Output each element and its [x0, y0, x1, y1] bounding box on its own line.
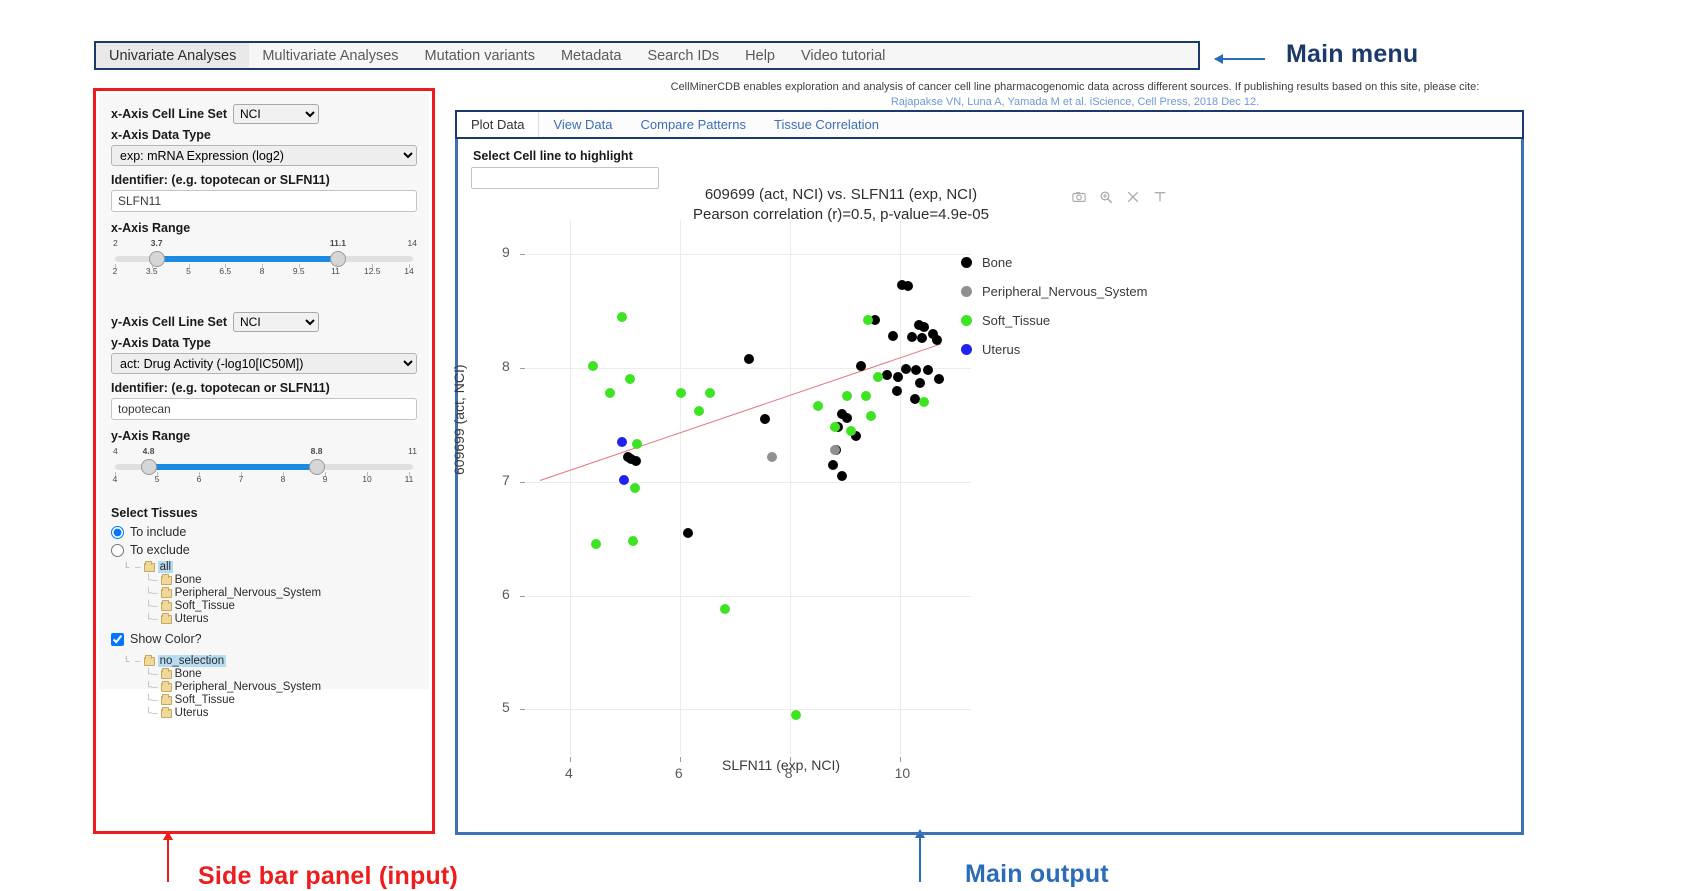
scatter-point[interactable]	[676, 388, 686, 398]
tree-child-node[interactable]: └–Bone	[145, 668, 417, 680]
scatter-point[interactable]	[917, 333, 927, 343]
tree-child-node[interactable]: └–Uterus	[145, 707, 417, 719]
tree-connector: └–	[145, 682, 158, 693]
y-axis-label: 609699 (act, NCI)	[451, 365, 467, 476]
scatter-point[interactable]	[892, 386, 902, 396]
scatter-point[interactable]	[830, 422, 840, 432]
legend-marker	[961, 344, 972, 355]
scatter-point[interactable]	[630, 483, 640, 493]
annotation-arrow-main-menu	[1215, 58, 1265, 60]
y-gridline	[526, 254, 971, 255]
plot-title: 609699 (act, NCI) vs. SLFN11 (exp, NCI) …	[561, 185, 1121, 226]
scatter-point[interactable]	[720, 604, 730, 614]
x-axis-cell-line-set-select[interactable]: NCI	[233, 104, 319, 124]
y-tick-label: 6	[502, 586, 510, 602]
scatter-point[interactable]	[705, 388, 715, 398]
folder-icon	[161, 589, 172, 598]
main-menu-item-metadata[interactable]: Metadata	[548, 43, 634, 68]
tree-child-label: Bone	[175, 574, 202, 586]
scatter-point[interactable]	[882, 370, 892, 380]
tree-child-label: Peripheral_Nervous_System	[175, 587, 321, 599]
scatter-point[interactable]	[842, 391, 852, 401]
x-axis-range-slider[interactable]: 2143.711.123.556.589.51112.514	[111, 238, 417, 284]
x-axis-identifier-input[interactable]	[111, 190, 417, 212]
main-menu[interactable]: Univariate AnalysesMultivariate Analyses…	[94, 41, 1200, 70]
tree-child-label: Uterus	[175, 707, 209, 719]
x-gridline	[790, 220, 791, 755]
scatter-point[interactable]	[856, 361, 866, 371]
y-axis-range-slider[interactable]: 4114.88.84567891011	[111, 446, 417, 492]
y-axis-identifier-input[interactable]	[111, 398, 417, 420]
tree-child-node[interactable]: └–Soft_Tissue	[145, 694, 417, 706]
y-gridline	[526, 709, 971, 710]
y-axis-range-label: y-Axis Range	[111, 429, 417, 443]
tab-label: View Data	[553, 117, 612, 132]
tree-twisty-icon[interactable]: └	[123, 562, 132, 572]
tree-connector: └–	[145, 601, 158, 612]
x-axis-range-label: x-Axis Range	[111, 221, 417, 235]
legend-item-uterus[interactable]: Uterus	[961, 342, 1147, 357]
main-menu-item-label: Metadata	[561, 48, 621, 64]
slider-fill	[157, 256, 338, 262]
tab-compare-patterns[interactable]: Compare Patterns	[627, 112, 761, 137]
legend-item-soft_tissue[interactable]: Soft_Tissue	[961, 313, 1147, 328]
tree-child-node[interactable]: └–Peripheral_Nervous_System	[145, 587, 417, 599]
scatter-point[interactable]	[694, 406, 704, 416]
main-menu-item-label: Multivariate Analyses	[262, 48, 398, 64]
scatter-point[interactable]	[893, 372, 903, 382]
legend-marker	[961, 257, 972, 268]
slider-value-high: 11.1	[330, 238, 346, 248]
scatter-point[interactable]	[861, 391, 871, 401]
scatter-point[interactable]	[631, 456, 641, 466]
tree-root-label: no_selection	[158, 655, 227, 667]
x-axis-range-block: x-Axis Range 2143.711.123.556.589.51112.…	[111, 221, 417, 284]
x-axis-data-type-select[interactable]: exp: mRNA Expression (log2)	[111, 145, 417, 166]
y-tick-label: 8	[502, 358, 510, 374]
plot-legend[interactable]: BonePeripheral_Nervous_SystemSoft_Tissue…	[961, 255, 1147, 371]
main-menu-item-label: Help	[745, 48, 775, 64]
slider-tick-label: 12.5	[364, 266, 381, 276]
y-tick-label: 9	[502, 244, 510, 260]
folder-icon	[161, 670, 172, 679]
trendline	[540, 343, 941, 481]
slider-tick-label: 3.5	[146, 266, 158, 276]
main-menu-item-univariate-analyses[interactable]: Univariate Analyses	[96, 43, 249, 68]
slider-tick-label: 14	[404, 266, 413, 276]
tree-child-node[interactable]: └–Bone	[145, 574, 417, 586]
tree-child-label: Soft_Tissue	[175, 694, 235, 706]
tab-tissue-correlation[interactable]: Tissue Correlation	[760, 112, 893, 137]
plot-title-line1: 609699 (act, NCI) vs. SLFN11 (exp, NCI)	[561, 185, 1121, 205]
slider-max-label: 11	[408, 446, 417, 456]
slider-min-label: 2	[113, 238, 118, 248]
sub-menu-tabs[interactable]: Plot DataView DataCompare PatternsTissue…	[455, 110, 1524, 139]
tree-child-label: Uterus	[175, 613, 209, 625]
legend-marker	[961, 315, 972, 326]
tree-connector: └–	[145, 695, 158, 706]
show-color-label: Show Color?	[130, 632, 202, 646]
tree-child-label: Bone	[175, 668, 202, 680]
slider-max-label: 14	[408, 238, 417, 248]
slider-tick-label: 7	[239, 474, 244, 484]
slider-tick-label: 2	[113, 266, 118, 276]
tree-root-label: all	[158, 561, 174, 573]
folder-icon	[161, 696, 172, 705]
tree-connector: └–	[145, 614, 158, 625]
tree-connector: └–	[145, 575, 158, 586]
annotation-main-output: Main output	[965, 860, 1109, 889]
scatter-point[interactable]	[830, 445, 840, 455]
scatter-point[interactable]	[863, 315, 873, 325]
tree-connector: └–	[145, 669, 158, 680]
tissue-include-radio-row[interactable]: To include	[111, 525, 417, 539]
x-gridline	[680, 220, 681, 755]
scatter-point[interactable]	[923, 365, 933, 375]
slider-tick-label: 5	[186, 266, 191, 276]
slider-tick-label: 6.5	[219, 266, 231, 276]
slider-tick-label: 9.5	[293, 266, 305, 276]
scatter-point[interactable]	[628, 536, 638, 546]
scatter-point[interactable]	[791, 710, 801, 720]
legend-label: Bone	[982, 255, 1012, 270]
x-gridline	[900, 220, 901, 755]
scatter-point[interactable]	[911, 365, 921, 375]
legend-label: Peripheral_Nervous_System	[982, 284, 1147, 299]
legend-marker	[961, 286, 972, 297]
scatter-point[interactable]	[873, 372, 883, 382]
main-menu-item-multivariate-analyses[interactable]: Multivariate Analyses	[249, 43, 411, 68]
scatter-point[interactable]	[625, 374, 635, 384]
main-menu-item-label: Search IDs	[647, 48, 719, 64]
show-color-row[interactable]: Show Color?	[111, 632, 417, 646]
scatter-point[interactable]	[903, 281, 913, 291]
tree-connector: └–	[145, 708, 158, 719]
pan-cross-icon[interactable]	[1126, 190, 1140, 204]
scatter-point[interactable]	[932, 335, 942, 345]
slider-tick-label: 11	[405, 474, 414, 484]
legend-item-bone[interactable]: Bone	[961, 255, 1147, 270]
x-axis-identifier-label: Identifier: (e.g. topotecan or SLFN11)	[111, 173, 417, 187]
slider-min-label: 4	[113, 446, 118, 456]
scatter-point[interactable]	[866, 411, 876, 421]
x-gridline	[570, 220, 571, 755]
annotation-main-menu: Main menu	[1286, 40, 1418, 69]
tree-root-node[interactable]: └–no_selection	[123, 655, 417, 667]
scatter-point[interactable]	[919, 397, 929, 407]
y-axis-data-type-select[interactable]: act: Drug Activity (-log10[IC50M])	[111, 353, 417, 374]
scatter-point[interactable]	[907, 332, 917, 342]
x-axis-cell-line-set-label: x-Axis Cell Line Set	[111, 107, 227, 121]
legend-label: Uterus	[982, 342, 1020, 357]
scatter-point[interactable]	[617, 437, 627, 447]
plot-title-line2: Pearson correlation (r)=0.5, p-value=4.9…	[561, 205, 1121, 225]
y-tick-mark	[520, 709, 525, 710]
tree-child-node[interactable]: └–Soft_Tissue	[145, 600, 417, 612]
scatter-point[interactable]	[760, 414, 770, 424]
scatter-point[interactable]	[888, 331, 898, 341]
tree-root-node[interactable]: └–all	[123, 561, 417, 573]
tree-connector: –	[135, 562, 141, 573]
slider-tick-label: 9	[323, 474, 328, 484]
y-tick-label: 7	[502, 472, 510, 488]
slider-tick-label: 11	[331, 266, 340, 276]
slider-tick-label: 5	[155, 474, 160, 484]
main-menu-item-help[interactable]: Help	[732, 43, 788, 68]
tissue-exclude-label: To exclude	[130, 543, 190, 557]
camera-icon[interactable]	[1072, 190, 1086, 204]
tab-view-data[interactable]: View Data	[539, 112, 626, 137]
annotation-sidebar: Side bar panel (input)	[198, 862, 458, 891]
tree-child-label: Soft_Tissue	[175, 600, 235, 612]
folder-icon	[144, 657, 155, 666]
tree-connector: └–	[145, 588, 158, 599]
annotation-arrow-sidebar	[167, 840, 169, 882]
tree-child-label: Peripheral_Nervous_System	[175, 681, 321, 693]
x-tick-mark	[900, 757, 901, 762]
main-menu-item-video-tutorial[interactable]: Video tutorial	[788, 43, 898, 68]
slider-tick-label: 10	[362, 474, 371, 484]
tree-child-node[interactable]: └–Uterus	[145, 613, 417, 625]
x-axis-cell-line-set-row: x-Axis Cell Line Set NCI	[111, 104, 417, 124]
slider-tick-label: 8	[260, 266, 265, 276]
y-gridline	[526, 596, 971, 597]
autoscale-icon[interactable]	[1153, 190, 1167, 204]
citation-line-1: CellMinerCDB enables exploration and ana…	[540, 81, 1610, 93]
tissue-tree-include[interactable]: └–all└–Bone└–Peripheral_Nervous_System└–…	[123, 561, 417, 625]
tissue-include-radio[interactable]	[111, 526, 124, 539]
legend-label: Soft_Tissue	[982, 313, 1050, 328]
scatter-point[interactable]	[934, 374, 944, 384]
scatter-point[interactable]	[605, 388, 615, 398]
slider-tick-label: 6	[197, 474, 202, 484]
sidebar-panel: x-Axis Cell Line Set NCI x-Axis Data Typ…	[99, 94, 429, 689]
folder-icon	[161, 576, 172, 585]
folder-icon	[161, 602, 172, 611]
y-axis-cell-line-set-label: y-Axis Cell Line Set	[111, 315, 227, 329]
slider-tick-label: 4	[113, 474, 118, 484]
main-menu-item-search-ids[interactable]: Search IDs	[634, 43, 732, 68]
y-tick-mark	[520, 368, 525, 369]
main-menu-item-mutation-variants[interactable]: Mutation variants	[412, 43, 548, 68]
scatter-point[interactable]	[683, 528, 693, 538]
x-tick-label: 6	[675, 765, 683, 781]
tissue-exclude-radio-row[interactable]: To exclude	[111, 543, 417, 557]
scatter-point[interactable]	[842, 413, 852, 423]
y-tick-label: 5	[502, 699, 510, 715]
x-tick-mark	[680, 757, 681, 762]
scatter-point[interactable]	[591, 539, 601, 549]
tree-child-node[interactable]: └–Peripheral_Nervous_System	[145, 681, 417, 693]
select-tissues-title: Select Tissues	[111, 506, 417, 520]
tab-label: Tissue Correlation	[774, 117, 879, 132]
x-tick-label: 10	[895, 765, 911, 781]
folder-icon	[161, 683, 172, 692]
x-tick-mark	[790, 757, 791, 762]
scatter-plot[interactable]: 609699 (act, NCI) vs. SLFN11 (exp, NCI) …	[461, 175, 1518, 830]
y-tick-mark	[520, 482, 525, 483]
tissue-exclude-radio[interactable]	[111, 544, 124, 557]
scatter-point[interactable]	[619, 475, 629, 485]
annotation-arrow-main-output	[919, 838, 921, 882]
plotly-modebar[interactable]	[1072, 190, 1167, 204]
main-menu-item-label: Univariate Analyses	[109, 48, 236, 64]
scatter-point[interactable]	[837, 471, 847, 481]
legend-item-peripheral_nervous_system[interactable]: Peripheral_Nervous_System	[961, 284, 1147, 299]
y-tick-mark	[520, 596, 525, 597]
scatter-point[interactable]	[828, 460, 838, 470]
y-gridline	[526, 482, 971, 483]
scatter-point[interactable]	[901, 364, 911, 374]
scatter-point[interactable]	[767, 452, 777, 462]
scatter-point[interactable]	[813, 401, 823, 411]
highlight-cell-line-label: Select Cell line to highlight	[473, 149, 1508, 163]
tab-label: Compare Patterns	[641, 117, 747, 132]
x-tick-label: 8	[785, 765, 793, 781]
scatter-point[interactable]	[632, 439, 642, 449]
slider-value-high: 8.8	[311, 446, 323, 456]
tree-connector: –	[135, 656, 141, 667]
slider-value-low: 3.7	[151, 238, 163, 248]
y-axis-identifier-label: Identifier: (e.g. topotecan or SLFN11)	[111, 381, 417, 395]
scatter-point[interactable]	[744, 354, 754, 364]
main-menu-item-label: Video tutorial	[801, 48, 885, 64]
zoom-icon[interactable]	[1099, 190, 1113, 204]
slider-value-low: 4.8	[143, 446, 155, 456]
x-tick-label: 4	[565, 765, 573, 781]
y-axis-range-block: y-Axis Range 4114.88.84567891011	[111, 429, 417, 492]
y-axis-data-type-label: y-Axis Data Type	[111, 336, 417, 350]
scatter-point[interactable]	[588, 361, 598, 371]
citation-link[interactable]: Rajapakse VN, Luna A, Yamada M et al. iS…	[540, 96, 1610, 108]
folder-icon	[144, 563, 155, 572]
y-axis-cell-line-set-select[interactable]: NCI	[233, 312, 319, 332]
tab-plot-data[interactable]: Plot Data	[457, 112, 539, 137]
main-menu-item-label: Mutation variants	[425, 48, 535, 64]
slider-fill	[149, 464, 317, 470]
y-tick-mark	[520, 254, 525, 255]
y-axis-cell-line-set-row: y-Axis Cell Line Set NCI	[111, 312, 417, 332]
folder-icon	[161, 709, 172, 718]
slider-tick-label: 8	[281, 474, 286, 484]
show-color-checkbox[interactable]	[111, 633, 124, 646]
tree-twisty-icon[interactable]: └	[123, 656, 132, 666]
folder-icon	[161, 615, 172, 624]
scatter-point[interactable]	[846, 426, 856, 436]
tissue-include-label: To include	[130, 525, 186, 539]
x-axis-data-type-label: x-Axis Data Type	[111, 128, 417, 142]
scatter-point[interactable]	[915, 378, 925, 388]
scatter-point[interactable]	[617, 312, 627, 322]
tissue-tree-color[interactable]: └–no_selection└–Bone└–Peripheral_Nervous…	[123, 655, 417, 719]
x-tick-mark	[570, 757, 571, 762]
tab-label: Plot Data	[471, 117, 524, 132]
